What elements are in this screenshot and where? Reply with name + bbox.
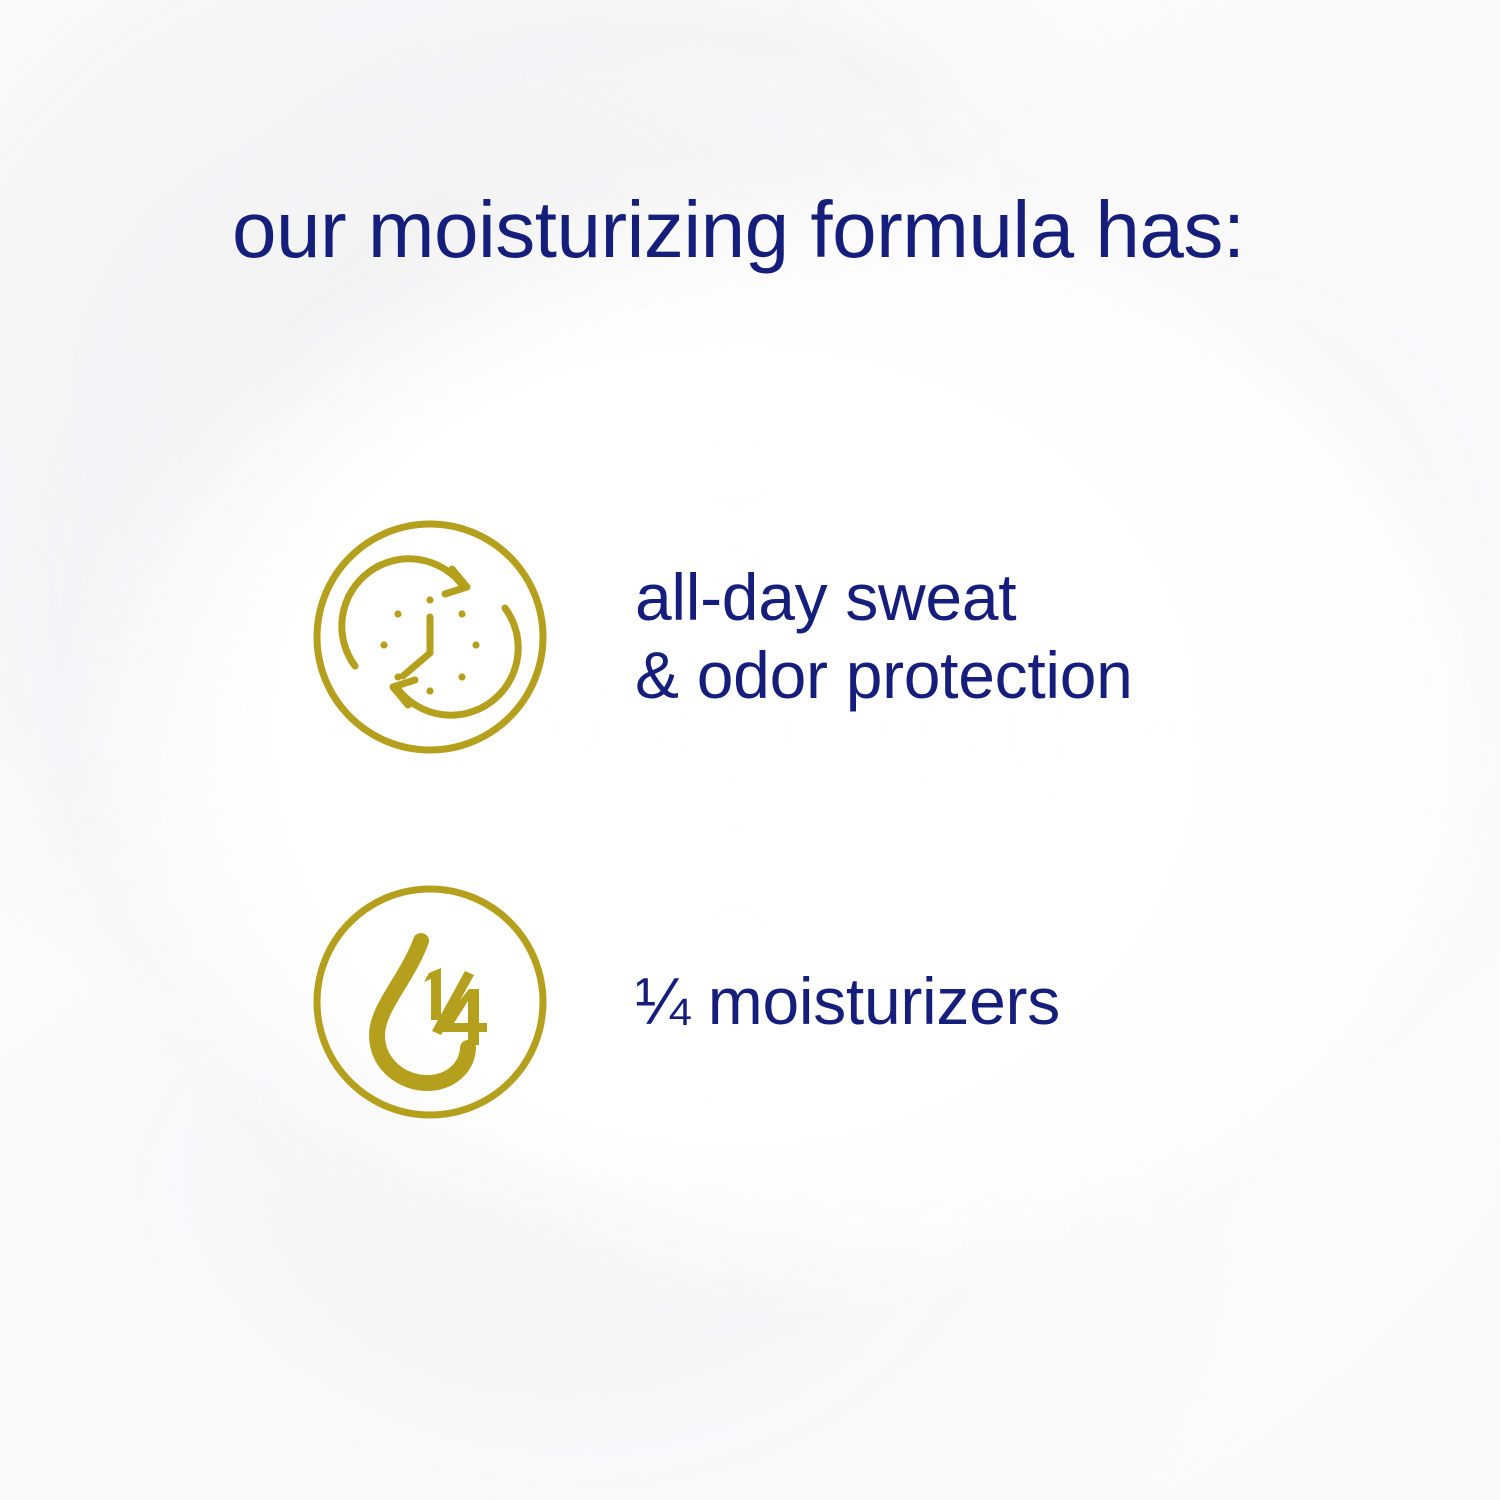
feature-label-line: ¼ moisturizers: [635, 963, 1060, 1041]
page-title: our moisturizing formula has:: [232, 188, 1245, 272]
feature-label-line: all-day sweat: [635, 559, 1133, 637]
clock-rotate-icon: [311, 518, 549, 756]
feature-label: all-day sweat & odor protection: [635, 559, 1133, 715]
feature-label: ¼ moisturizers: [635, 963, 1060, 1041]
feature-label-line: & odor protection: [635, 637, 1133, 715]
droplet-quarter-icon: [311, 883, 549, 1121]
feature-row: ¼ moisturizers: [311, 883, 1060, 1121]
feature-row: all-day sweat & odor protection: [311, 518, 1133, 756]
product-benefits-graphic: our moisturizing formula has:: [0, 0, 1500, 1500]
